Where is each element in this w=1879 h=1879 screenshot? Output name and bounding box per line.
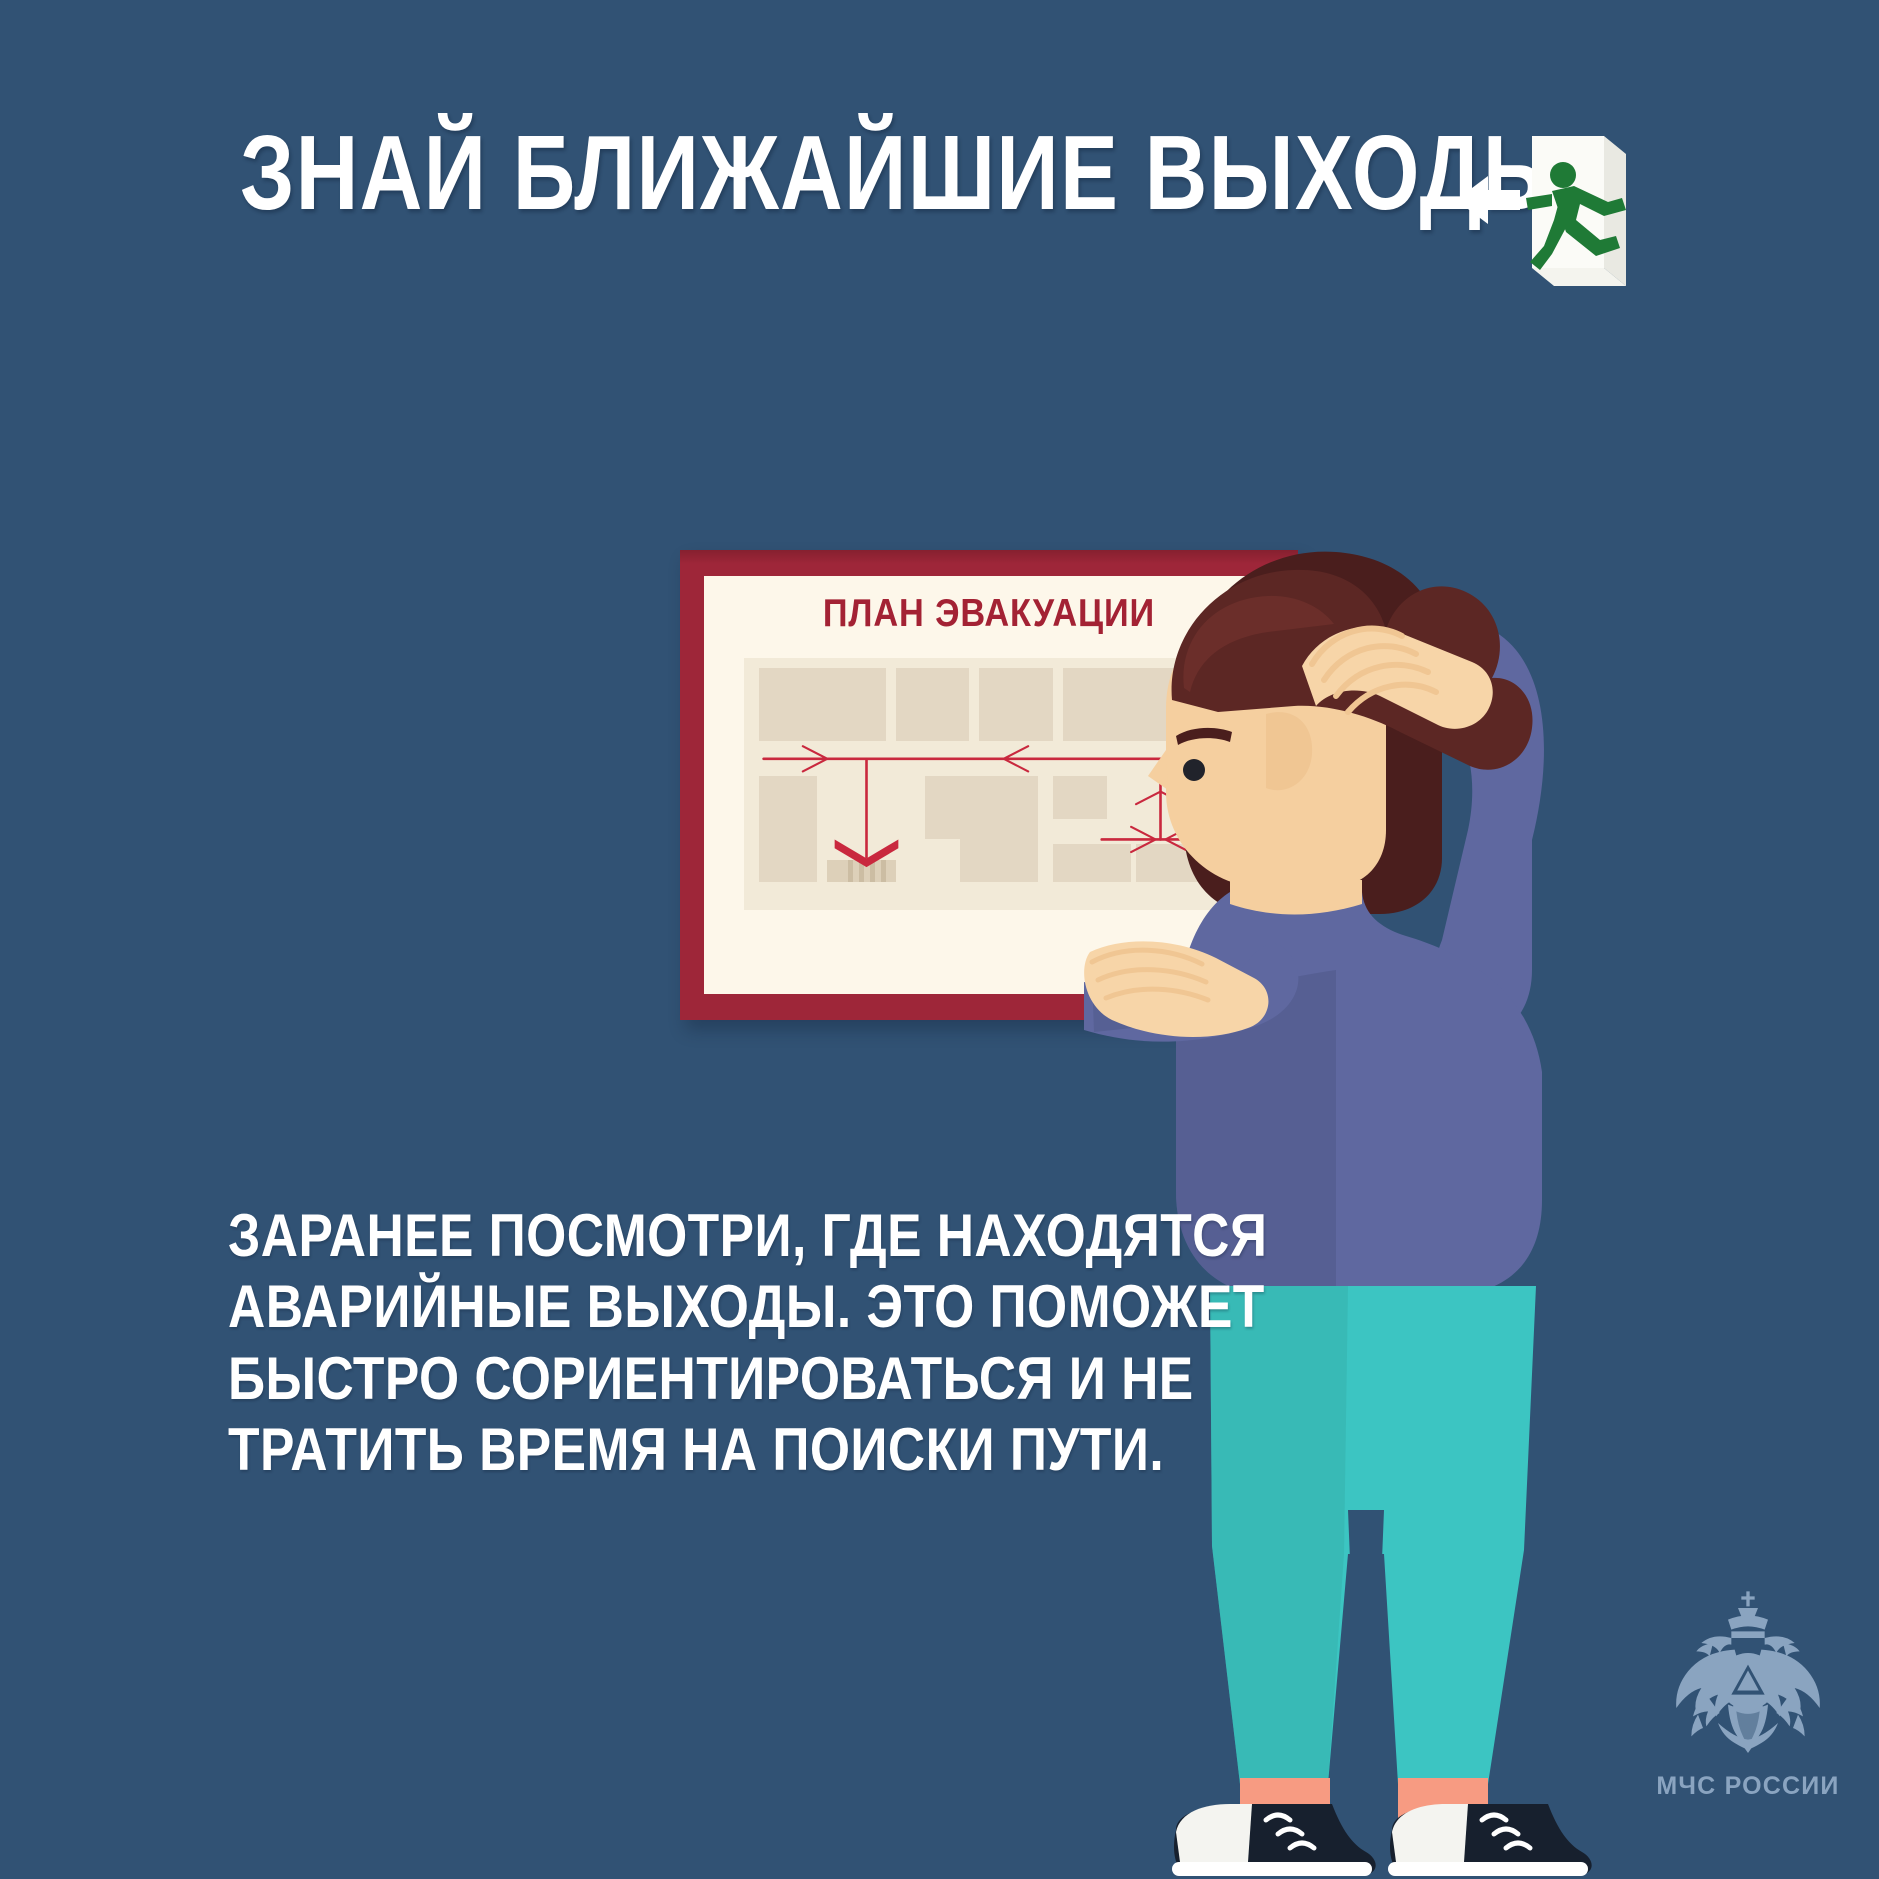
shoe-right	[1388, 1804, 1592, 1876]
body-copy-line-4: ТРАТИТЬ ВРЕМЯ НА ПОИСКИ ПУТИ.	[228, 1414, 1105, 1485]
body-copy: ЗАРАНЕЕ ПОСМОТРИ, ГДЕ НАХОДЯТСЯ АВАРИЙНЫ…	[228, 1200, 1248, 1486]
body-copy-line-2: АВАРИЙНЫЕ ВЫХОДЫ. ЭТО ПОМОЖЕТ	[228, 1271, 1105, 1342]
emergency-exit-icon	[1448, 128, 1648, 308]
exit-arrow-left-icon	[1456, 176, 1520, 224]
logo-caption: МЧС РОССИИ	[1628, 1772, 1868, 1801]
body-copy-line-3: БЫСТРО СОРИЕНТИРОВАТЬСЯ И НЕ	[228, 1343, 1105, 1414]
mchs-eagle-emblem	[1648, 1588, 1848, 1763]
shoe-left	[1172, 1804, 1376, 1876]
page-title: ЗНАЙ БЛИЖАЙШИЕ ВЫХОДЫ	[240, 120, 1569, 226]
mchs-rossii-logo: МЧС РОССИИ	[1628, 1588, 1868, 1801]
body-copy-line-1: ЗАРАНЕЕ ПОСМОТРИ, ГДЕ НАХОДЯТСЯ	[228, 1200, 1105, 1271]
pants	[1210, 1286, 1536, 1784]
infographic-poster: ЗНАЙ БЛИЖАЙШИЕ ВЫХОДЫ ПЛАН	[0, 0, 1879, 1879]
eye	[1183, 759, 1205, 781]
person-illustration	[1080, 500, 1700, 1879]
